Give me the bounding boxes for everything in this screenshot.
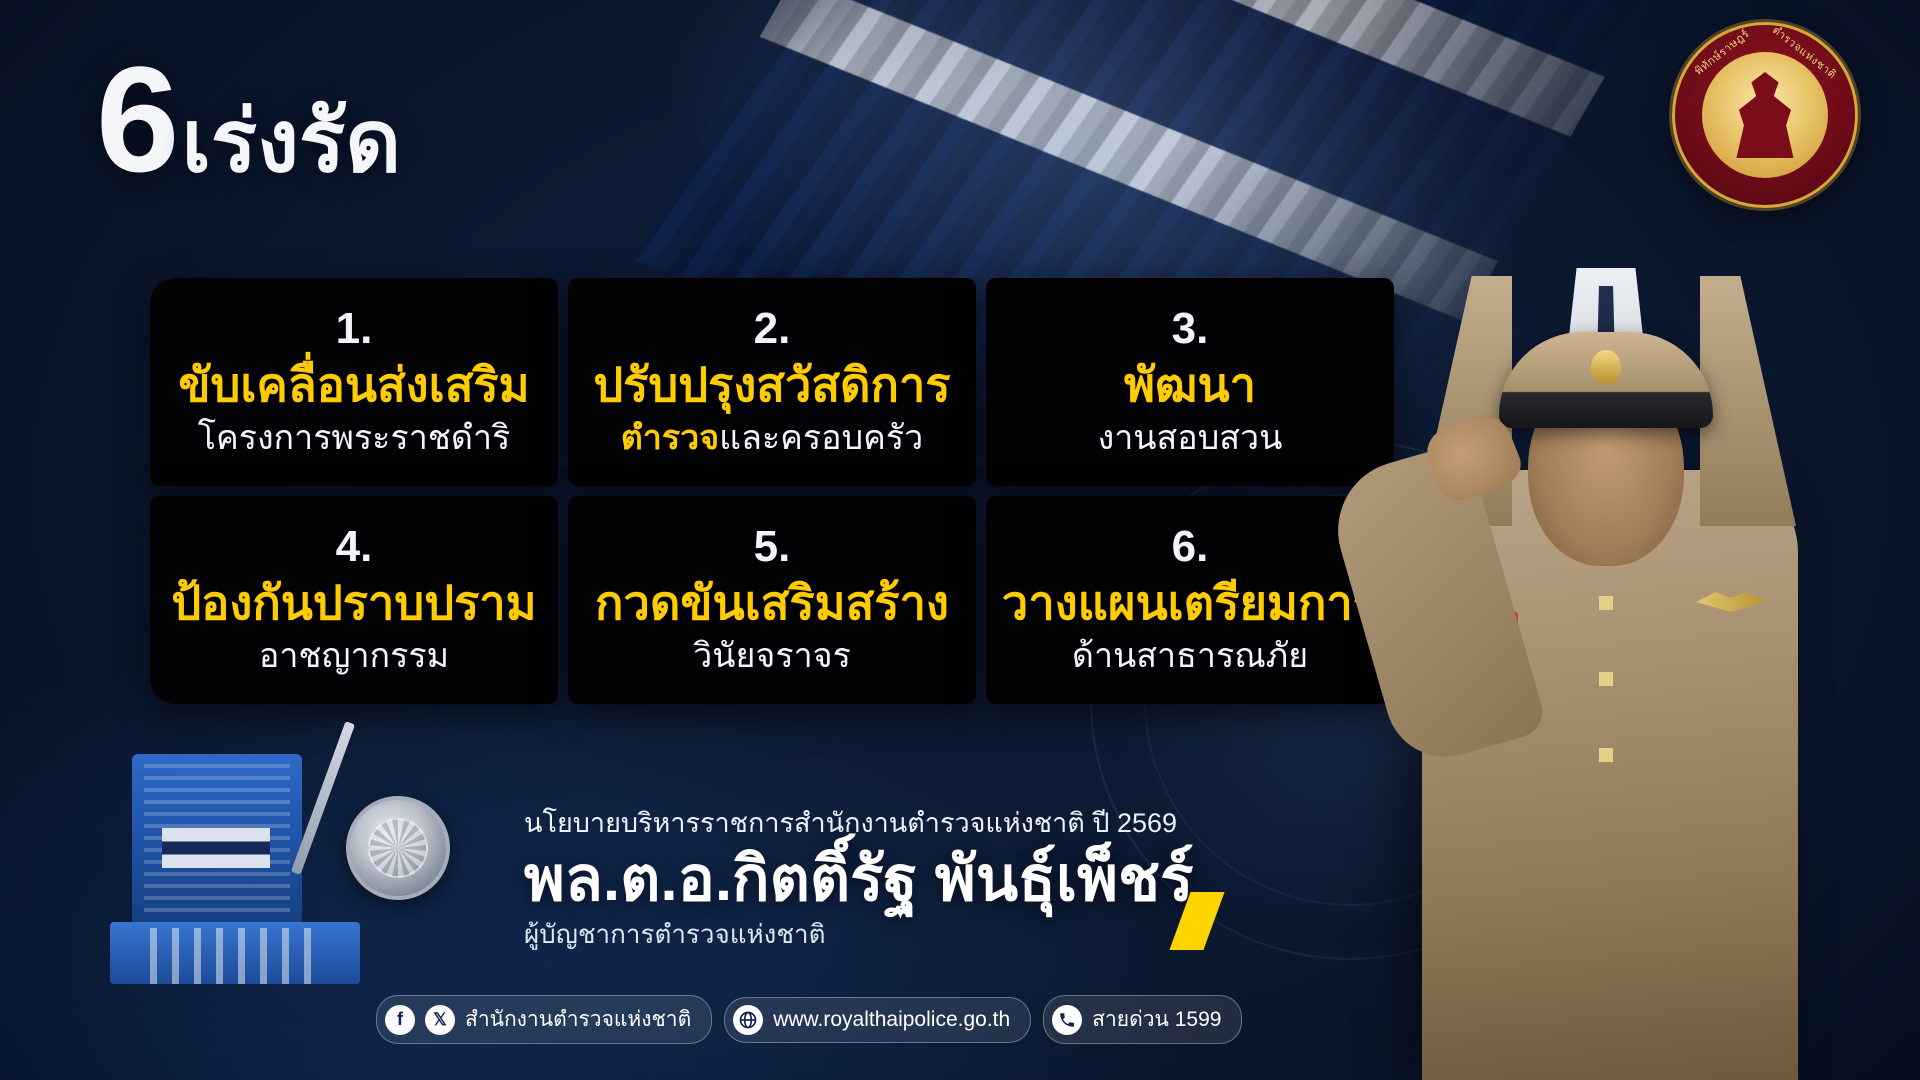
headline-word: เร่งรัด: [181, 99, 401, 185]
card-subtitle-text: ด้านสาธารณภัย: [1072, 637, 1308, 675]
card-subtitle-highlight: ตำรวจ: [621, 419, 719, 457]
card-subtitle-text: และครอบครัว: [719, 419, 923, 457]
card-subtitle: วินัยจราจร: [693, 636, 851, 677]
card-subtitle: ด้านสาธารณภัย: [1072, 636, 1308, 677]
card-title: ปรับปรุงสวัสดิการ: [593, 359, 950, 412]
card-subtitle: ตำรวจและครอบครัว: [621, 418, 924, 459]
card-number: 3.: [1172, 307, 1209, 351]
card-subtitle: โครงการพระราชดำริ: [198, 418, 511, 459]
royal-thai-police-emblem-icon: พิทักษ์ราษฎร์ ตำรวจแห่งชาติ: [1672, 22, 1858, 208]
headquarters-columns: [150, 928, 320, 984]
policy-card-5[interactable]: 5. กวดขันเสริมสร้าง วินัยจราจร: [568, 496, 976, 704]
commissioner-name: พล.ต.อ.กิตติ์รัฐ พันธุ์เพ็ชร์: [524, 843, 1193, 916]
emblem-ring: พิทักษ์ราษฎร์ ตำรวจแห่งชาติ: [1672, 22, 1858, 208]
footer-contact-bar: f 𝕏 สำนักงานตำรวจแห่งชาติ www.royalthaip…: [376, 995, 1242, 1044]
policy-card-3[interactable]: 3. พัฒนา งานสอบสวน: [986, 278, 1394, 486]
social-pill[interactable]: f 𝕏 สำนักงานตำรวจแห่งชาติ: [376, 995, 712, 1044]
card-title: กวดขันเสริมสร้าง: [595, 577, 949, 630]
emblem-inner-disc: [1702, 52, 1828, 178]
card-subtitle: งานสอบสวน: [1098, 418, 1283, 459]
card-number: 4.: [336, 525, 373, 569]
police-headquarters-illustration: [110, 736, 370, 996]
headquarters-flag-band: [162, 828, 270, 868]
card-subtitle-text: งานสอบสวน: [1098, 419, 1283, 457]
card-number: 6.: [1172, 525, 1209, 569]
policy-card-6[interactable]: 6. วางแผนเตรียมการ ด้านสาธารณภัย: [986, 496, 1394, 704]
policy-card-grid: 1. ขับเคลื่อนส่งเสริม โครงการพระราชดำริ …: [150, 278, 1394, 704]
card-title: ป้องกันปราบปราม: [171, 577, 536, 630]
facebook-icon[interactable]: f: [385, 1005, 415, 1035]
card-subtitle-text: โครงการพระราชดำริ: [198, 419, 511, 457]
hotline-label: สายด่วน 1599: [1092, 1003, 1225, 1036]
website-label: www.royalthaipolice.go.th: [773, 1008, 1014, 1032]
headline-number: 6: [96, 44, 175, 194]
card-title: พัฒนา: [1124, 359, 1256, 412]
policy-card-1[interactable]: 1. ขับเคลื่อนส่งเสริม โครงการพระราชดำริ: [150, 278, 558, 486]
policy-year-line: นโยบายบริหารราชการสำนักงานตำรวจแห่งชาติ …: [524, 807, 1193, 841]
card-title: วางแผนเตรียมการ: [1002, 577, 1378, 630]
emblem-figure-icon: [1734, 72, 1796, 158]
card-number: 5.: [754, 525, 791, 569]
social-label: สำนักงานตำรวจแห่งชาติ: [465, 1003, 695, 1036]
x-twitter-icon[interactable]: 𝕏: [425, 1005, 455, 1035]
card-subtitle: อาชญากรรม: [259, 636, 449, 677]
website-pill[interactable]: www.royalthaipolice.go.th: [724, 997, 1031, 1043]
card-subtitle-text: อาชญากรรม: [259, 637, 449, 675]
card-number: 1.: [336, 307, 373, 351]
page-title: 6 เร่งรัด: [96, 44, 401, 194]
card-subtitle-text: วินัยจราจร: [693, 637, 851, 675]
policy-card-4[interactable]: 4. ป้องกันปราบปราม อาชญากรรม: [150, 496, 558, 704]
hotline-pill[interactable]: สายด่วน 1599: [1043, 995, 1242, 1044]
commissioner-role: ผู้บัญชาการตำรวจแห่งชาติ: [524, 918, 1193, 952]
commissioner-block: นโยบายบริหารราชการสำนักงานตำรวจแห่งชาติ …: [524, 807, 1193, 952]
card-number: 2.: [754, 307, 791, 351]
police-medal-icon: [346, 796, 450, 900]
globe-icon[interactable]: [733, 1005, 763, 1035]
poster-canvas: 6 เร่งรัด พิทักษ์ราษฎร์ ตำรวจแห่งชาติ 1.…: [0, 0, 1920, 1080]
card-title: ขับเคลื่อนส่งเสริม: [178, 359, 529, 412]
policy-card-2[interactable]: 2. ปรับปรุงสวัสดิการ ตำรวจและครอบครัว: [568, 278, 976, 486]
phone-icon[interactable]: [1052, 1005, 1082, 1035]
